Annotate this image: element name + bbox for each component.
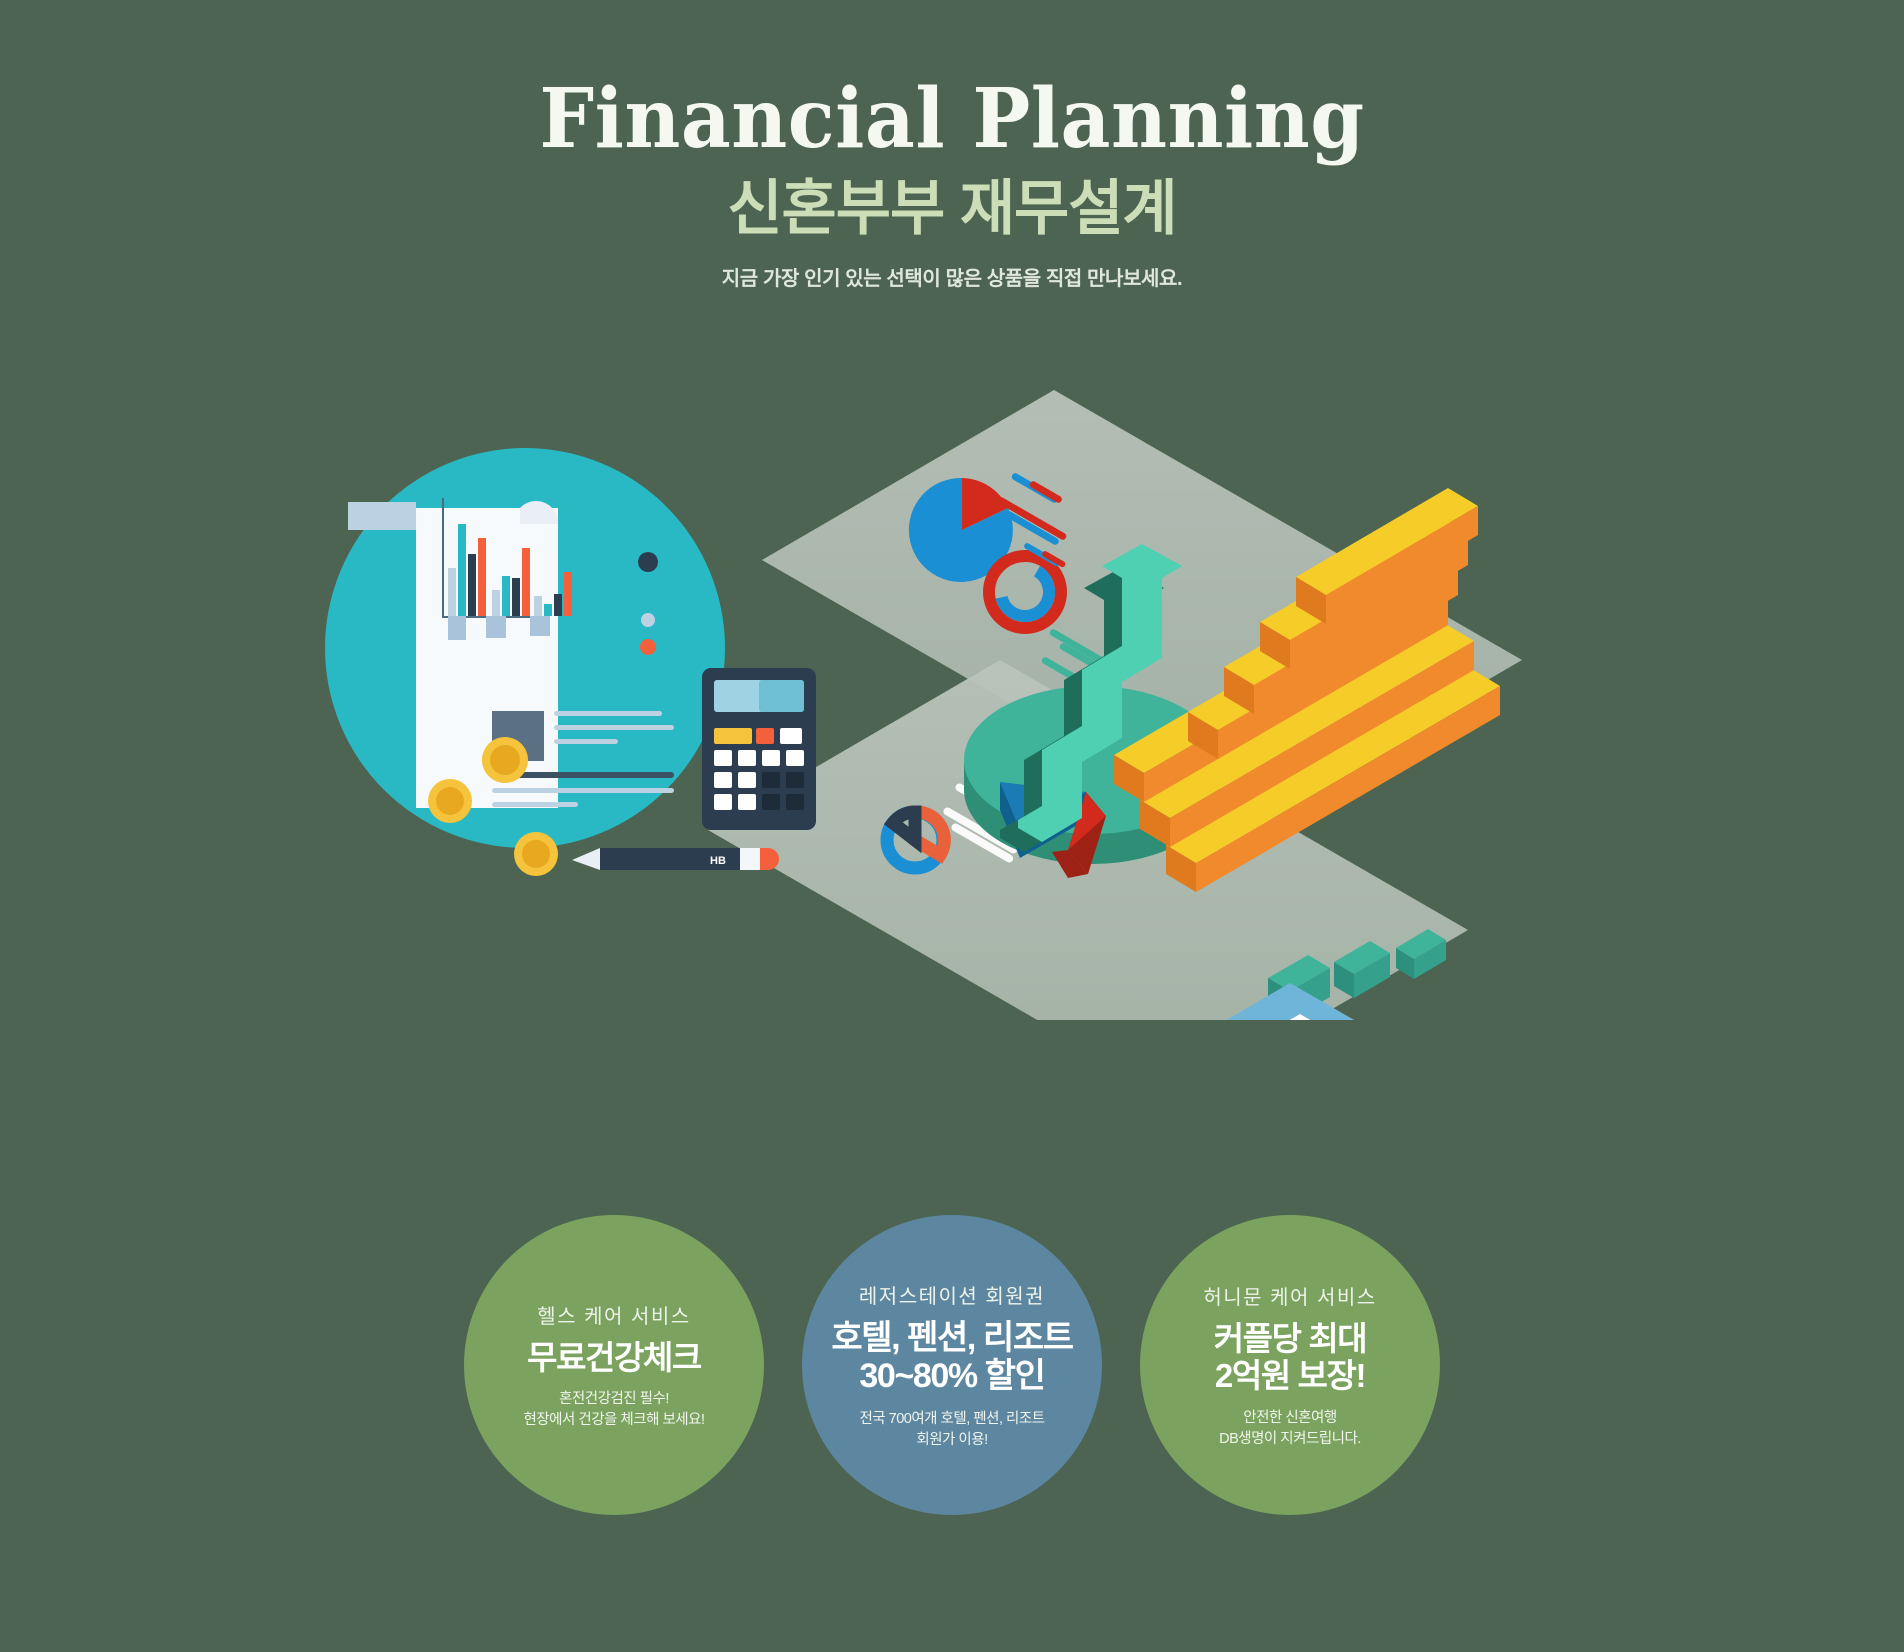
benefit-circle-health-care[interactable]: 헬스 케어 서비스 무료건강체크 혼전건강검진 필수! 현장에서 건강을 체크해… [464, 1215, 764, 1515]
benefit-note: 전국 700여개 호텔, 펜션, 리조트 회원가 이용! [859, 1409, 1044, 1450]
benefit-headline-line2: 30~80% 할인 [831, 1357, 1072, 1396]
illustration-svg: $ [0, 330, 1904, 1020]
benefit-note: 안전한 신혼여행 DB생명이 지켜드립니다. [1219, 1408, 1361, 1449]
benefit-headline: 호텔, 펜션, 리조트 30~80% 할인 [831, 1319, 1072, 1397]
benefit-note-line1: 안전한 신혼여행 [1243, 1410, 1336, 1426]
page-subtitle: 지금 가장 인기 있는 선택이 많은 상품을 직접 만나보세요. [0, 262, 1904, 291]
benefit-note-line2: 회원가 이용! [916, 1432, 987, 1448]
benefit-eyebrow: 헬스 케어 서비스 [537, 1300, 690, 1329]
benefit-headline-line1: 호텔, 펜션, 리조트 [831, 1319, 1072, 1357]
benefit-note-line2: 현장에서 건강을 체크해 보세요! [523, 1412, 704, 1428]
benefit-headline: 커플당 최대 2억원 보장! [1214, 1320, 1367, 1395]
benefit-note-line2: DB생명이 지켜드립니다. [1219, 1431, 1361, 1447]
pencil: HB [572, 848, 779, 870]
calculator [702, 668, 816, 830]
benefit-headline-line1: 무료건강체크 [527, 1339, 701, 1376]
benefit-circles: 헬스 케어 서비스 무료건강체크 혼전건강검진 필수! 현장에서 건강을 체크해… [0, 1215, 1904, 1515]
hero-illustration: $ [0, 330, 1904, 1020]
benefit-headline-line1: 커플당 최대 [1214, 1320, 1367, 1357]
benefit-circle-leisure-station[interactable]: 레저스테이션 회원권 호텔, 펜션, 리조트 30~80% 할인 전국 700여… [802, 1215, 1102, 1515]
teal-circle-badge: HB [325, 448, 816, 876]
header: Financial Planning 신혼부부 재무설계 지금 가장 인기 있는… [0, 0, 1904, 291]
promo-banner: Financial Planning 신혼부부 재무설계 지금 가장 인기 있는… [0, 0, 1904, 1652]
benefit-circle-honeymoon-care[interactable]: 허니문 케어 서비스 커플당 최대 2억원 보장! 안전한 신혼여행 DB생명이… [1140, 1215, 1440, 1515]
benefit-note: 혼전건강검진 필수! 현장에서 건강을 체크해 보세요! [523, 1389, 704, 1430]
benefit-note-line1: 전국 700여개 호텔, 펜션, 리조트 [859, 1411, 1044, 1427]
svg-text:HB: HB [710, 855, 726, 867]
benefit-note-line1: 혼전건강검진 필수! [559, 1391, 669, 1407]
benefit-headline-line2: 2억원 보장! [1214, 1357, 1367, 1395]
benefit-headline: 무료건강체크 [527, 1339, 701, 1377]
benefit-eyebrow: 허니문 케어 서비스 [1203, 1281, 1376, 1310]
benefit-eyebrow: 레저스테이션 회원권 [859, 1280, 1045, 1309]
page-title-english: Financial Planning [57, 78, 1847, 162]
page-title-korean: 신혼부부 재무설계 [0, 176, 1904, 242]
